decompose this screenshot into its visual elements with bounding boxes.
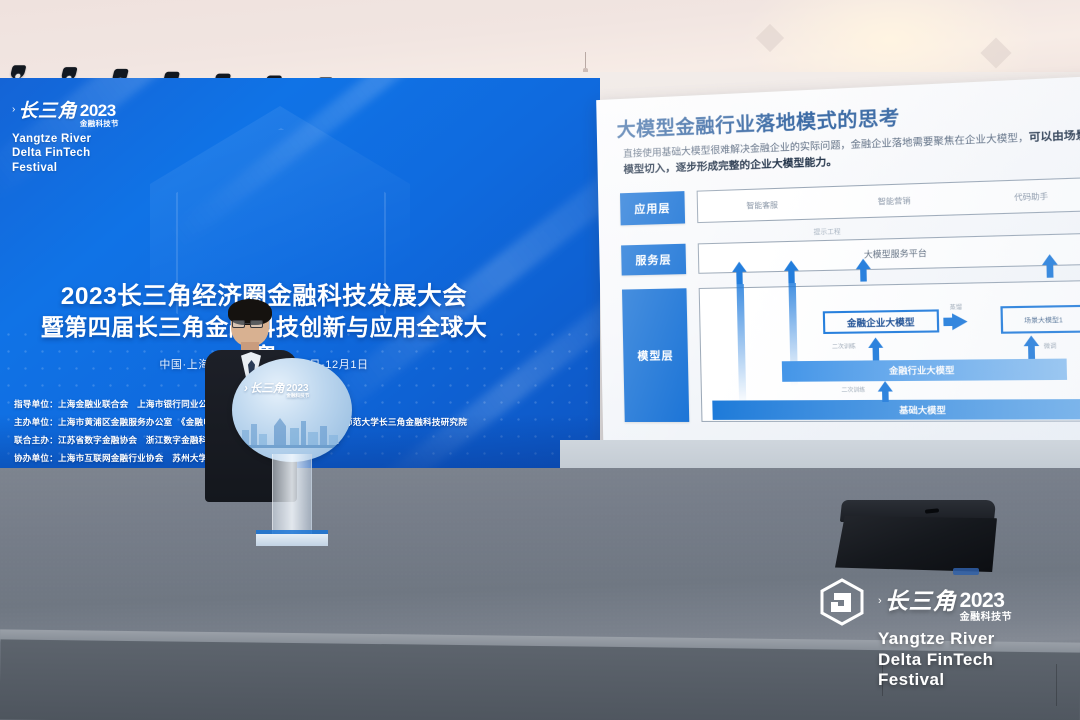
stage-monitor-speaker	[833, 500, 1003, 580]
service-layer-note: 提示工程	[814, 226, 841, 236]
eyeglasses-bridge	[245, 323, 250, 324]
watermark-arrow-icon: ›	[878, 590, 882, 612]
flow-stem	[737, 284, 747, 405]
watermark-chinese: 长三角	[885, 590, 957, 613]
ceiling-spotlight	[10, 65, 27, 79]
slide-layer-model: 模型层 金融企业大模型 蒸馏	[622, 280, 1080, 422]
eyeglasses-icon	[250, 320, 263, 328]
city-skyline-graphic	[240, 408, 344, 448]
up-arrow-icon	[784, 260, 799, 271]
up-arrow-icon	[856, 259, 871, 270]
presentation-screen: 大模型金融行业落地模式的思考 直接使用基础大模型很难解决金融企业的实际问题，金融…	[596, 75, 1080, 471]
organizer-key: 协办单位：	[14, 453, 58, 463]
festival-mark-icon	[818, 578, 866, 626]
watermark-english-line1: Yangtze River	[878, 629, 1012, 650]
up-arrow-stem	[860, 269, 867, 282]
podium: › 长三角 2023 金融科技节	[232, 358, 352, 558]
app-item-marketing: 智能营销	[827, 193, 962, 209]
watermark-subtitle-cn: 金融科技节	[960, 613, 1013, 623]
organizer-key: 联合主办：	[14, 435, 58, 445]
logo-subtitle-cn: 金融科技节	[80, 120, 119, 128]
up-arrow-stem	[788, 271, 795, 283]
up-arrow-icon	[1042, 254, 1058, 265]
layer-tag-model: 模型层	[622, 288, 689, 422]
app-item-code-assistant: 代码助手	[962, 188, 1080, 204]
podium-column	[272, 454, 312, 536]
scene-model-1: 场景大模型1	[1003, 307, 1080, 332]
podium-logo-chinese: 长三角	[250, 384, 285, 396]
logo-year: 2023	[80, 102, 119, 119]
podium-base	[256, 534, 328, 546]
app-item-customer-service: 智能客服	[698, 197, 828, 212]
model-layer-panel: 金融企业大模型 蒸馏 场景大模型1 场景大模型2 金融行业大模型 二次训练	[699, 280, 1080, 422]
slide-layer-service: 服务层 大模型服务平台	[621, 233, 1080, 276]
dateline-location: 中国·上海	[159, 359, 210, 371]
label-distill: 蒸馏	[950, 303, 962, 312]
organizer-key: 主办单位：	[14, 417, 58, 427]
up-arrow-stem	[873, 348, 880, 361]
eyeglasses-icon	[232, 320, 245, 328]
scene-model-group: 场景大模型1 场景大模型2	[1000, 303, 1080, 333]
podium-logo-disc: › 长三角 2023 金融科技节	[232, 358, 352, 462]
monitor-foot	[953, 568, 979, 575]
label-secondary-training: 二次训练	[841, 385, 865, 393]
up-arrow-icon	[732, 261, 747, 272]
monitor-grille	[835, 516, 997, 572]
conference-stage-photo: › 长三角 2023 金融科技节 Yangtze River Delta Fin…	[0, 0, 1080, 720]
festival-watermark: › 长三角 2023 金融科技节 Yangtze River Delta Fin…	[818, 578, 1068, 710]
distill-arrow-icon	[952, 313, 968, 330]
podium-logo-sub: 金融科技节	[286, 394, 309, 399]
service-platform-box: 大模型服务平台	[698, 233, 1080, 274]
up-arrow-stem	[1028, 346, 1035, 359]
logo-arrow-icon: ›	[12, 102, 15, 118]
watermark-year: 2023	[960, 590, 1013, 611]
logo-english-line3: Festival	[12, 161, 192, 176]
layer-tag-application: 应用层	[620, 191, 685, 225]
logo-english-line1: Yangtze River	[12, 132, 192, 147]
slide-title: 大模型金融行业落地模式的思考	[616, 102, 900, 142]
watermark-english-line2: Delta FinTech	[878, 650, 1012, 671]
up-arrow-icon	[1023, 335, 1039, 346]
application-layer-box: 智能客服 智能营销 代码助手	[697, 177, 1080, 223]
layer-tag-service: 服务层	[621, 244, 686, 276]
up-arrow-stem	[1046, 265, 1053, 278]
label-fine-tune: 微调	[1044, 342, 1057, 351]
slide-layer-application: 应用层 智能客服 智能营销 代码助手	[620, 177, 1080, 226]
organizer-key: 指导单位：	[14, 399, 58, 409]
enterprise-model-box: 金融企业大模型	[823, 309, 940, 334]
festival-logo-backdrop: › 长三角 2023 金融科技节 Yangtze River Delta Fin…	[12, 102, 192, 176]
up-arrow-icon	[868, 337, 883, 348]
up-arrow-stem	[882, 392, 889, 402]
base-model-box: 基础大模型	[712, 399, 1080, 420]
podium-logo-arrow-icon: ›	[244, 384, 248, 396]
watermark-english-line3: Festival	[878, 670, 1012, 691]
up-arrow-icon	[878, 381, 893, 392]
industry-model-box: 金融行业大模型	[782, 359, 1067, 382]
label-secondary-training: 二次训练	[832, 342, 856, 351]
logo-english-line2: Delta FinTech	[12, 146, 192, 161]
logo-chinese-name: 长三角	[18, 102, 77, 121]
podium-festival-logo: › 长三角 2023 金融科技节	[244, 384, 340, 399]
up-arrow-stem	[736, 272, 742, 284]
